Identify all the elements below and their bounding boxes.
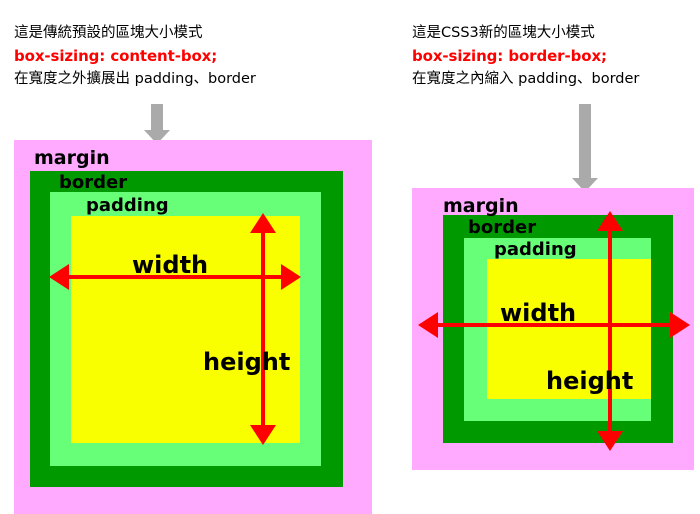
arrow-shaft [151, 104, 163, 130]
margin-label: margin [34, 147, 110, 169]
caption-content-box: 這是傳統預設的區塊大小模式 box-sizing: content-box; 在… [14, 22, 256, 91]
height-arrow [250, 213, 276, 445]
margin-label: margin [443, 195, 519, 217]
height-label: height [203, 348, 290, 376]
arrow-head-down [250, 425, 276, 445]
width-label: width [132, 251, 208, 279]
arrow-head-right [670, 312, 690, 338]
padding-label: padding [494, 239, 577, 260]
arrow-down-icon [144, 104, 170, 144]
arrow-shaft [579, 104, 591, 178]
height-label: height [546, 367, 633, 395]
border-label: border [59, 172, 127, 193]
arrow-shaft [261, 225, 265, 433]
caption-left-code: box-sizing: content-box; [14, 45, 256, 68]
caption-left-line-1: 這是傳統預設的區塊大小模式 [14, 22, 256, 45]
caption-right-line-3: 在寬度之內縮入 padding、border [412, 68, 639, 91]
border-label: border [468, 217, 536, 238]
caption-right-line-1: 這是CSS3新的區塊大小模式 [412, 22, 639, 45]
caption-left-line-3: 在寬度之外擴展出 padding、border [14, 68, 256, 91]
width-label: width [500, 299, 576, 327]
caption-right-code: box-sizing: border-box; [412, 45, 639, 68]
caption-border-box: 這是CSS3新的區塊大小模式 box-sizing: border-box; 在… [412, 22, 639, 91]
arrow-head-right [281, 264, 301, 290]
padding-label: padding [86, 195, 169, 216]
arrow-down-icon [572, 104, 598, 192]
arrow-head-down [597, 431, 623, 451]
